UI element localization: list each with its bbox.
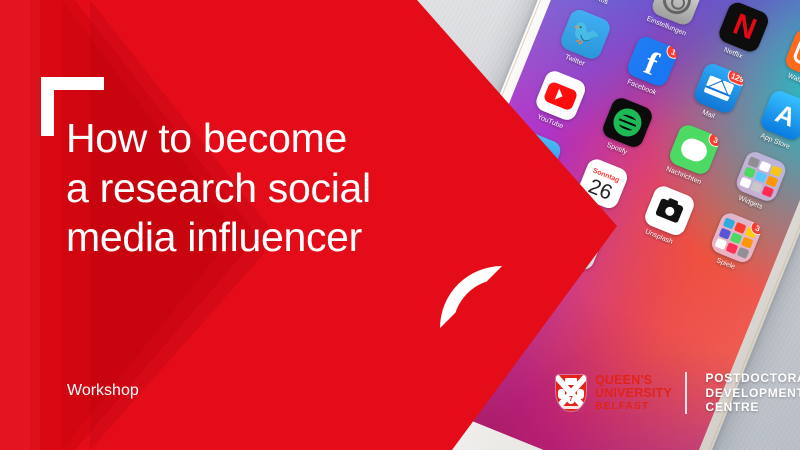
- logo-lockup: QUEEN'S UNIVERSITY BELFAST POSTDOCTORAL …: [556, 371, 800, 415]
- pdc-line-2: DEVELOPMENT: [706, 386, 800, 401]
- queens-university-crest-icon: [556, 375, 586, 411]
- qub-line-3: BELFAST: [595, 401, 672, 412]
- qub-line-1: QUEEN'S: [595, 374, 672, 387]
- queens-university-wordmark: QUEEN'S UNIVERSITY BELFAST: [595, 374, 672, 412]
- app-label: Mail: [701, 109, 716, 120]
- pdc-line-3: CENTRE: [706, 400, 800, 415]
- app-label: Fotos: [590, 0, 609, 6]
- qub-line-2: UNIVERSITY: [595, 387, 672, 400]
- vertical-divider-icon: [685, 372, 687, 414]
- slide-canvas: obile ❀ 61 % 5:31 PM Fotos: [0, 0, 800, 450]
- slide-kicker-label: Workshop: [67, 382, 139, 400]
- pdc-line-1: POSTDOCTORAL: [706, 371, 800, 386]
- postdoctoral-development-centre-wordmark: POSTDOCTORAL DEVELOPMENT CENTRE: [706, 371, 800, 415]
- app-label: Wattpad: [786, 72, 800, 88]
- page-title: How to become a research social media in…: [66, 114, 496, 263]
